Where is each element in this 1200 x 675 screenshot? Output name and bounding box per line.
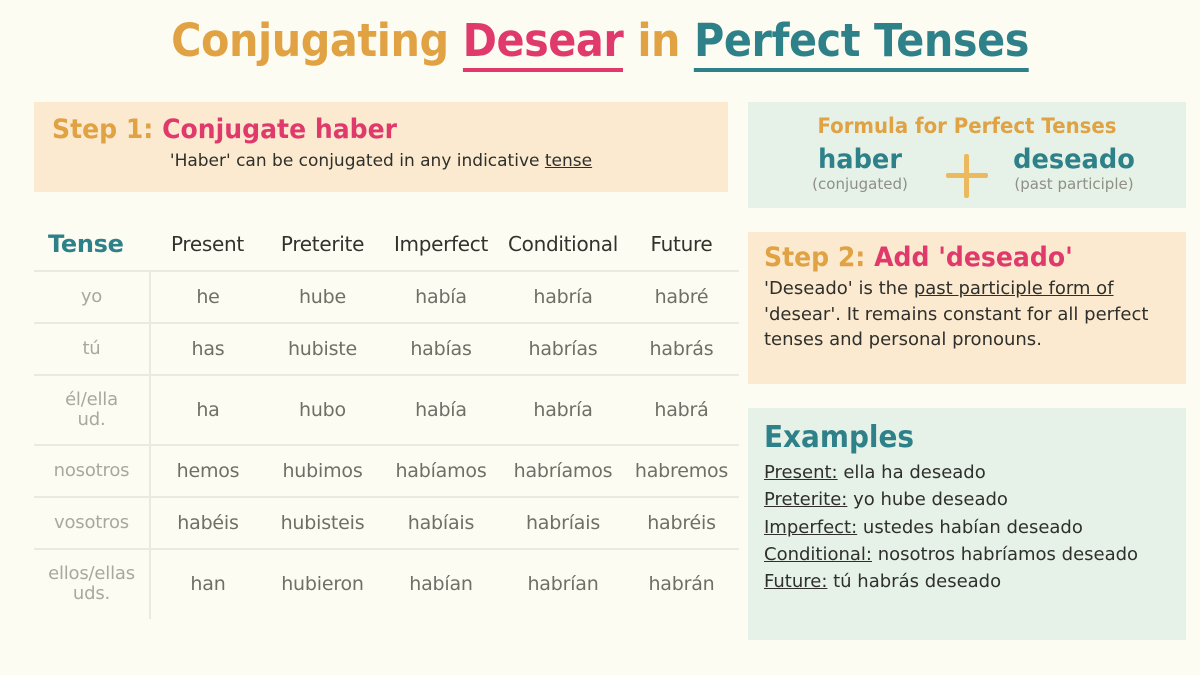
formula-row: haber (conjugated) deseado (past partici…: [748, 146, 1186, 198]
formula-haber-note: (conjugated): [776, 175, 944, 193]
step-2-heading: Step 2: Add 'deseado': [764, 242, 1142, 273]
title-part-conjugating: Conjugating: [171, 14, 449, 67]
page-title: Conjugating Desear in Perfect Tenses: [48, 14, 1152, 67]
title-part-perfect-tenses: Perfect Tenses: [694, 14, 1029, 72]
example-sentence: ella ha deseado: [838, 462, 986, 483]
table-cell-form: habríamos: [502, 445, 624, 497]
example-sentence: ustedes habían deseado: [857, 517, 1083, 538]
table-cell-form: habréis: [624, 497, 739, 549]
examples-box: Examples Present: ella ha deseadoPreteri…: [748, 408, 1186, 640]
table-row: él/ellaud.hahubohabíahabríahabrá: [34, 375, 739, 445]
table-cell-form: había: [380, 375, 502, 445]
example-line: Conditional: nosotros habríamos deseado: [764, 541, 1170, 568]
example-tense-label: Imperfect:: [764, 517, 857, 538]
table-cell-form: habríais: [502, 497, 624, 549]
conjugation-table-wrapper: Tense Present Preterite Imperfect Condit…: [34, 230, 728, 619]
examples-list: Present: ella ha deseadoPreterite: yo hu…: [764, 459, 1170, 596]
example-line: Imperfect: ustedes habían deseado: [764, 514, 1170, 541]
table-cell-form: habrías: [502, 323, 624, 375]
table-cell-form: hubieron: [265, 549, 380, 618]
table-header-present: Present: [150, 230, 265, 271]
table-body: yohehubehabíahabríahabrétúhashubistehabí…: [34, 271, 739, 619]
example-tense-label: Future:: [764, 571, 827, 592]
haber-conjugation-table: Tense Present Preterite Imperfect Condit…: [34, 230, 739, 619]
table-cell-form: habéis: [150, 497, 265, 549]
formula-deseado-note: (past participle): [990, 175, 1158, 193]
step-1-number: Step 1:: [52, 114, 153, 145]
table-cell-form: hubo: [265, 375, 380, 445]
table-header-imperfect: Imperfect: [380, 230, 502, 271]
table-row: túhashubistehabíashabríashabrás: [34, 323, 739, 375]
formula-title: Formula for Perfect Tenses: [761, 114, 1173, 138]
example-line: Future: tú habrás deseado: [764, 568, 1170, 595]
table-cell-form: habíais: [380, 497, 502, 549]
table-cell-form: habrían: [502, 549, 624, 618]
table-row: nosotroshemoshubimoshabíamoshabríamoshab…: [34, 445, 739, 497]
table-cell-form: hubisteis: [265, 497, 380, 549]
step-2-body-underlined: past participle form of: [914, 278, 1114, 299]
example-line: Preterite: yo hube deseado: [764, 486, 1170, 513]
table-cell-form: he: [150, 271, 265, 323]
title-verb-desear: Desear: [463, 14, 624, 72]
table-cell-form: habrá: [624, 375, 739, 445]
table-head: Tense Present Preterite Imperfect Condit…: [34, 230, 739, 271]
table-header-tense: Tense: [34, 230, 150, 271]
table-cell-form: había: [380, 271, 502, 323]
table-header-future: Future: [624, 230, 739, 271]
table-header-preterite: Preterite: [265, 230, 380, 271]
step-1-banner: Step 1: Conjugate haber 'Haber' can be c…: [34, 102, 728, 192]
formula-box: Formula for Perfect Tenses haber (conjug…: [748, 102, 1186, 208]
table-row: vosotroshabéishubisteishabíaishabríaisha…: [34, 497, 739, 549]
table-cell-pronoun: yo: [34, 271, 150, 323]
example-tense-label: Preterite:: [764, 489, 847, 510]
step-1-subtitle-underlined: tense: [545, 151, 592, 171]
table-header-conditional: Conditional: [502, 230, 624, 271]
step-1-title: Conjugate haber: [162, 114, 397, 145]
step-2-title: Add 'deseado': [874, 242, 1073, 273]
table-cell-pronoun: ellos/ellasuds.: [34, 549, 150, 618]
table-cell-form: hemos: [150, 445, 265, 497]
step-1-subtitle: 'Haber' can be conjugated in any indicat…: [52, 151, 710, 171]
table-cell-form: habremos: [624, 445, 739, 497]
formula-left-term: haber (conjugated): [776, 146, 944, 193]
examples-title: Examples: [764, 420, 1142, 455]
table-cell-form: hube: [265, 271, 380, 323]
example-sentence: tú habrás deseado: [827, 571, 1001, 592]
table-cell-pronoun: vosotros: [34, 497, 150, 549]
step-2-body-pre: 'Deseado' is the: [764, 278, 914, 299]
table-cell-pronoun: nosotros: [34, 445, 150, 497]
table-header-row: Tense Present Preterite Imperfect Condit…: [34, 230, 739, 271]
example-line: Present: ella ha deseado: [764, 459, 1170, 486]
step-2-box: Step 2: Add 'deseado' 'Deseado' is the p…: [748, 232, 1186, 384]
formula-haber-word: haber: [780, 146, 940, 174]
formula-deseado-word: deseado: [994, 146, 1154, 174]
table-cell-form: habíamos: [380, 445, 502, 497]
table-cell-pronoun: él/ellaud.: [34, 375, 150, 445]
table-cell-form: ha: [150, 375, 265, 445]
table-cell-pronoun: tú: [34, 323, 150, 375]
example-sentence: nosotros habríamos deseado: [872, 544, 1138, 565]
step-2-number: Step 2:: [764, 242, 865, 273]
table-cell-form: habrás: [624, 323, 739, 375]
table-cell-form: habré: [624, 271, 739, 323]
step-2-body: 'Deseado' is the past participle form of…: [764, 276, 1170, 353]
example-tense-label: Present:: [764, 462, 838, 483]
table-cell-form: habría: [502, 271, 624, 323]
table-cell-form: hubiste: [265, 323, 380, 375]
table-cell-form: han: [150, 549, 265, 618]
step-1-subtitle-text: 'Haber' can be conjugated in any indicat…: [170, 151, 545, 171]
table-cell-form: habías: [380, 323, 502, 375]
step-1-heading: Step 1: Conjugate haber: [52, 114, 664, 145]
example-sentence: yo hube deseado: [847, 489, 1008, 510]
step-2-body-rest: 'desear'. It remains constant for all pe…: [764, 304, 1148, 351]
table-cell-form: habían: [380, 549, 502, 618]
example-tense-label: Conditional:: [764, 544, 872, 565]
table-cell-form: hubimos: [265, 445, 380, 497]
title-part-in: in: [637, 14, 680, 67]
table-cell-form: has: [150, 323, 265, 375]
plus-icon: [944, 152, 990, 198]
table-row: ellos/ellasuds.hanhubieronhabíanhabríanh…: [34, 549, 739, 618]
table-cell-form: habría: [502, 375, 624, 445]
table-cell-form: habrán: [624, 549, 739, 618]
formula-right-term: deseado (past participle): [990, 146, 1158, 193]
table-row: yohehubehabíahabríahabré: [34, 271, 739, 323]
